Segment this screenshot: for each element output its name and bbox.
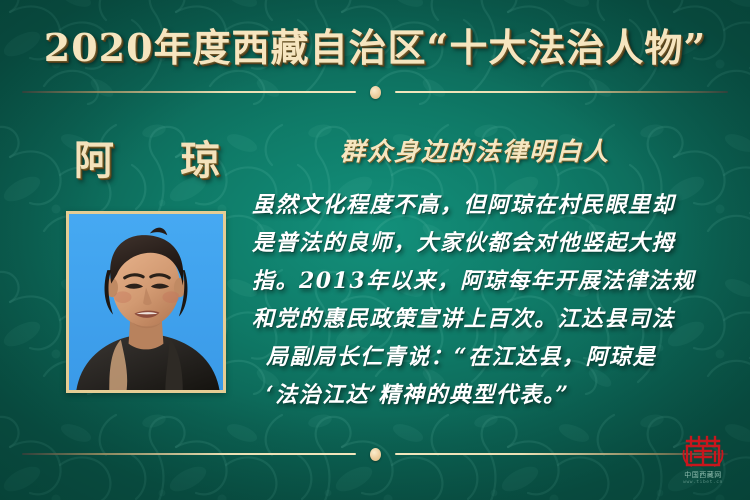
article-line: 是普法的良师，大家伙都会对他竖起大拇 bbox=[252, 224, 702, 262]
divider-dot-icon bbox=[370, 86, 381, 99]
title-area: 2020年度西藏自治区“十大法治人物” bbox=[0, 26, 750, 70]
site-logo-url: www.tibet.cn bbox=[672, 480, 734, 486]
site-logo-name: 中国西藏网 bbox=[672, 471, 734, 480]
article-subtitle: 群众身边的法律明白人 bbox=[252, 132, 698, 168]
divider-dot-icon bbox=[370, 448, 381, 461]
article-line: 指。2013年以来，阿琼每年开展法律法规 bbox=[252, 262, 702, 300]
article-line: 虽然文化程度不高，但阿琼在村民眼里却 bbox=[252, 186, 702, 224]
divider-line-right bbox=[395, 91, 729, 93]
article-body: 虽然文化程度不高，但阿琼在村民眼里却 是普法的良师，大家伙都会对他竖起大拇 指。… bbox=[252, 186, 702, 414]
divider-line-left bbox=[22, 453, 356, 455]
article-line: ‘法治江达’精神的典型代表。” bbox=[252, 376, 702, 414]
site-logo[interactable]: 中国西藏网 www.tibet.cn bbox=[672, 434, 734, 486]
article-line: 局副局长仁青说：“在江达县，阿琼是 bbox=[252, 338, 702, 376]
page-title: 2020年度西藏自治区“十大法治人物” bbox=[44, 26, 706, 70]
divider-line-left bbox=[22, 91, 356, 93]
ornament-divider-top bbox=[22, 84, 728, 100]
ornament-divider-bottom bbox=[22, 446, 728, 462]
person-name: 阿 琼 bbox=[52, 128, 242, 186]
person-photo bbox=[66, 211, 226, 393]
article-line: 和党的惠民政策宣讲上百次。江达县司法 bbox=[252, 300, 702, 338]
poster-canvas: 2020年度西藏自治区“十大法治人物” 阿 琼 bbox=[0, 0, 750, 500]
seal-logo-icon bbox=[682, 434, 724, 468]
